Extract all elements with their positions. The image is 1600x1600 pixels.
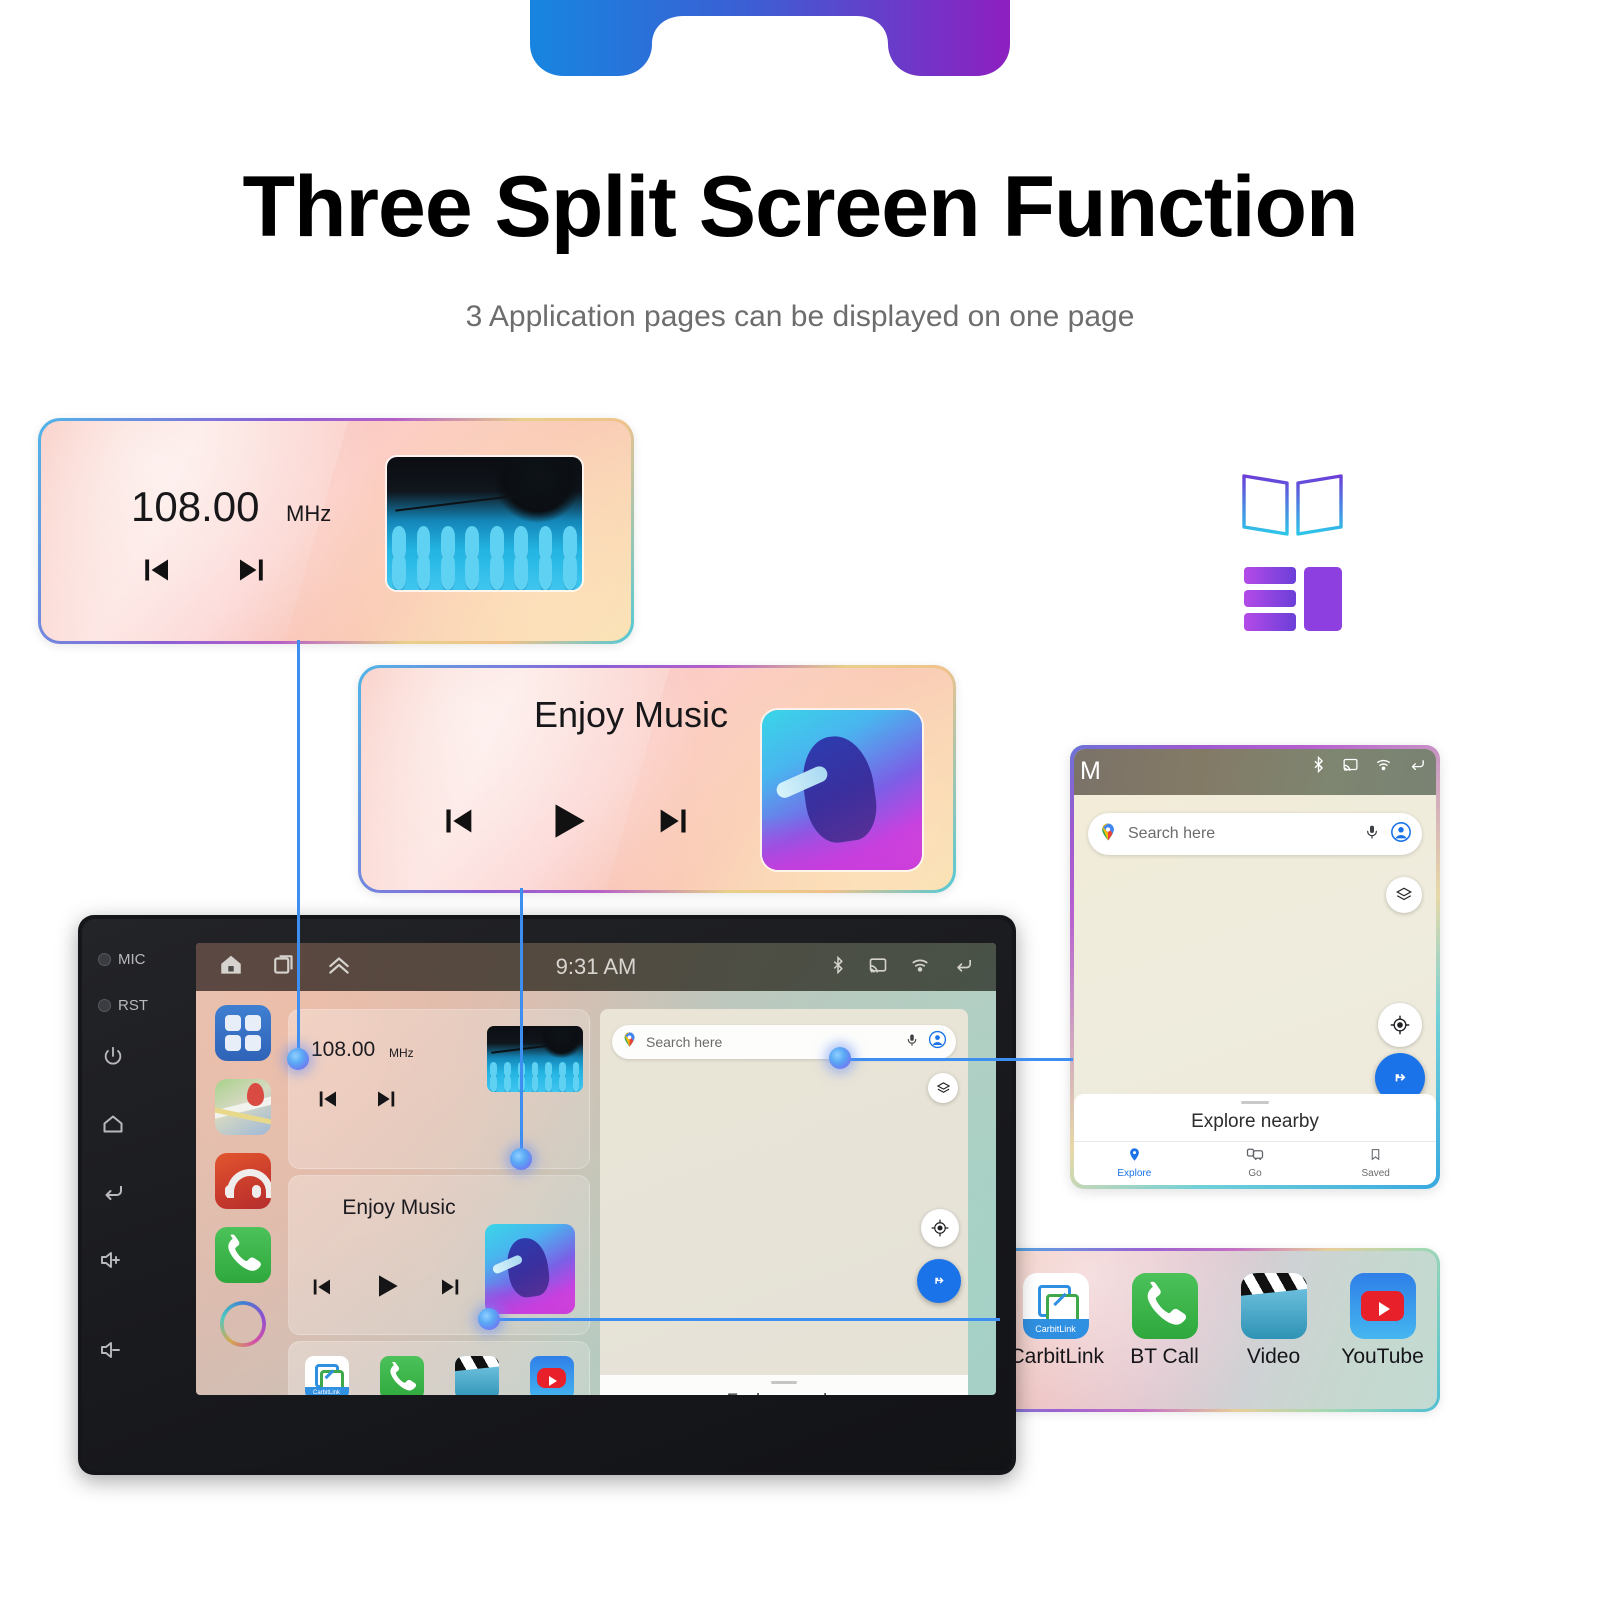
- widget-radio-unit: MHz: [389, 1046, 414, 1060]
- card-sheen: [41, 421, 349, 641]
- account-circle-icon[interactable]: [1390, 821, 1412, 848]
- connector-maps: [845, 1058, 1073, 1061]
- widget-radio-frequency: 108.00: [311, 1038, 375, 1062]
- mic-led-icon: [98, 953, 111, 966]
- page-root: SPLIT Three Split Screen Function 3 Appl…: [0, 0, 1600, 1600]
- page-subtitle: 3 Application pages can be displayed on …: [0, 300, 1600, 334]
- skip-previous-icon[interactable]: [305, 1272, 335, 1302]
- phone-icon: [380, 1356, 424, 1395]
- power-icon[interactable]: [102, 1045, 124, 1067]
- video-clapperboard-icon: [455, 1356, 499, 1395]
- my-location-icon[interactable]: [921, 1209, 959, 1247]
- back-arrow-icon[interactable]: [1407, 756, 1428, 778]
- carbitlink-icon: CarbitLink: [1023, 1273, 1089, 1339]
- skip-next-icon[interactable]: [653, 798, 699, 844]
- microphone-icon[interactable]: [1364, 824, 1380, 845]
- connector-music: [520, 888, 523, 1160]
- microphone-icon[interactable]: [905, 1033, 919, 1052]
- bezel-label-mic: MIC: [118, 951, 146, 968]
- status-letter: M: [1080, 757, 1101, 786]
- carbitlink-icon: CarbitLink: [305, 1356, 349, 1395]
- device-screen: 9:31 AM: [196, 943, 996, 1395]
- assistant-ring-icon[interactable]: [220, 1301, 266, 1347]
- cast-icon: [1341, 756, 1360, 778]
- widget-app-bt-call[interactable]: BT Call: [369, 1356, 435, 1395]
- widget-maps-search-input[interactable]: Search here: [612, 1025, 956, 1059]
- radio-frequency: 108.00: [131, 483, 259, 531]
- home-icon[interactable]: [101, 1112, 125, 1136]
- layers-icon[interactable]: [928, 1073, 958, 1103]
- skip-previous-icon[interactable]: [433, 798, 479, 844]
- bezel-label-rst: RST: [118, 997, 148, 1014]
- screen-status-bar: 9:31 AM: [196, 943, 996, 991]
- google-maps-pin-icon: [1098, 822, 1118, 847]
- app-video[interactable]: Video: [1228, 1273, 1320, 1369]
- bottom-nav-explore[interactable]: Explore: [1074, 1147, 1195, 1179]
- maps-callout-card: M: [1070, 745, 1440, 1189]
- widget-music-title: Enjoy Music: [289, 1196, 509, 1220]
- connector-radio: [297, 640, 300, 1060]
- widget-app-carbitlink[interactable]: CarbitLink CarbitLink: [294, 1356, 360, 1395]
- skip-next-icon[interactable]: [437, 1272, 467, 1302]
- widget-maps-sheet: Explore nearby Explore Go: [600, 1375, 968, 1395]
- connector-node-radio: [287, 1048, 309, 1070]
- my-location-icon[interactable]: [1378, 1003, 1422, 1047]
- account-circle-icon[interactable]: [928, 1030, 947, 1054]
- explore-nearby-label: Explore nearby: [600, 1384, 968, 1395]
- phone-icon[interactable]: [215, 1227, 271, 1283]
- back-icon[interactable]: [101, 1180, 125, 1204]
- app-carbitlink[interactable]: CarbitLink CarbitLink: [1010, 1273, 1102, 1369]
- connector-node-music: [510, 1148, 532, 1170]
- connector-node-maps: [829, 1047, 851, 1069]
- maps-search-input[interactable]: Search here: [1088, 813, 1422, 855]
- google-maps-pin-icon: [621, 1031, 638, 1053]
- phone-icon: [1132, 1273, 1198, 1339]
- connector-apps: [492, 1318, 1000, 1321]
- page-title: Three Split Screen Function: [0, 158, 1600, 257]
- place-pin-icon: [1127, 1149, 1142, 1166]
- play-icon[interactable]: [371, 1270, 403, 1302]
- bottom-nav-saved[interactable]: Saved: [1315, 1147, 1436, 1179]
- maps-status-bar: M: [1074, 749, 1436, 795]
- youtube-icon: [1350, 1273, 1416, 1339]
- app-youtube[interactable]: YouTube: [1337, 1273, 1429, 1369]
- volume-up-icon[interactable]: [99, 1249, 125, 1271]
- bezel-rst[interactable]: RST: [98, 997, 148, 1014]
- music-thumbnail: [760, 708, 924, 872]
- app-bt-call[interactable]: BT Call: [1119, 1273, 1211, 1369]
- app-label: BT Call: [1119, 1345, 1211, 1369]
- car-head-unit-device: MIC RST: [78, 915, 1016, 1475]
- widget-maps-placeholder: Search here: [646, 1034, 905, 1050]
- split-banner: SPLIT: [530, 0, 1010, 76]
- headphones-art: [492, 455, 584, 524]
- widget-radio[interactable]: 108.00 MHz: [288, 1009, 590, 1169]
- skip-next-icon[interactable]: [233, 549, 275, 591]
- maps-search-placeholder: Search here: [1128, 825, 1364, 843]
- split-layout-filled-icon: [1242, 565, 1344, 633]
- radio-frequency-unit: MHz: [286, 501, 331, 527]
- widget-app-youtube[interactable]: YouTube: [519, 1356, 585, 1395]
- explore-nearby-label: Explore nearby: [1074, 1104, 1436, 1141]
- maps-icon[interactable]: [215, 1079, 271, 1135]
- status-bar-time: 9:31 AM: [196, 954, 996, 980]
- bookmark-icon: [1369, 1149, 1382, 1166]
- bottom-nav-go-label: Go: [1195, 1168, 1316, 1179]
- maps-bottom-sheet: Explore nearby Explore Go: [1074, 1094, 1436, 1185]
- split-banner-label: SPLIT: [530, 20, 1010, 56]
- screen-dock: [206, 1005, 280, 1347]
- widget-music-thumbnail: [485, 1224, 575, 1314]
- bluetooth-icon: [1310, 756, 1327, 778]
- widget-app-video[interactable]: Video: [444, 1356, 510, 1395]
- widget-radio-thumbnail: [487, 1026, 583, 1092]
- bezel-mic[interactable]: MIC: [98, 951, 146, 968]
- radio-thumbnail: [385, 455, 584, 592]
- music-headphones-icon[interactable]: [215, 1153, 271, 1209]
- widget-maps[interactable]: Search here: [600, 1009, 968, 1395]
- widget-apps[interactable]: CarbitLink CarbitLink BT Call Video: [288, 1341, 590, 1395]
- apps-callout-card: CarbitLink CarbitLink BT Call Video: [998, 1248, 1440, 1412]
- bottom-nav-go[interactable]: Go: [1195, 1147, 1316, 1179]
- skip-previous-icon[interactable]: [311, 1084, 341, 1114]
- volume-down-icon[interactable]: [99, 1339, 125, 1361]
- bottom-nav-explore-label: Explore: [1074, 1168, 1195, 1179]
- rst-led-icon: [98, 999, 111, 1012]
- youtube-icon: [530, 1356, 574, 1395]
- layers-icon[interactable]: [1386, 877, 1422, 913]
- carbitlink-badge: CarbitLink: [1023, 1319, 1089, 1339]
- device-bezel-buttons: MIC RST: [92, 937, 200, 1407]
- directions-icon[interactable]: [917, 1259, 961, 1303]
- wifi-icon: [1374, 756, 1393, 778]
- skip-next-icon[interactable]: [373, 1084, 403, 1114]
- skip-previous-icon[interactable]: [133, 549, 175, 591]
- connector-node-apps: [478, 1308, 500, 1330]
- app-label: YouTube: [1337, 1345, 1429, 1369]
- app-label: CarbitLink: [1010, 1345, 1102, 1369]
- play-icon[interactable]: [543, 796, 593, 846]
- maps-bottom-nav: Explore Go Saved: [1074, 1141, 1436, 1185]
- app-label: Video: [1228, 1345, 1320, 1369]
- commute-icon: [1246, 1149, 1264, 1166]
- video-clapperboard-icon: [1241, 1273, 1307, 1339]
- dual-panel-outline-icon: [1240, 470, 1345, 540]
- apps-grid-icon[interactable]: [215, 1005, 271, 1061]
- bottom-nav-saved-label: Saved: [1315, 1168, 1436, 1179]
- widget-music[interactable]: Enjoy Music: [288, 1175, 590, 1335]
